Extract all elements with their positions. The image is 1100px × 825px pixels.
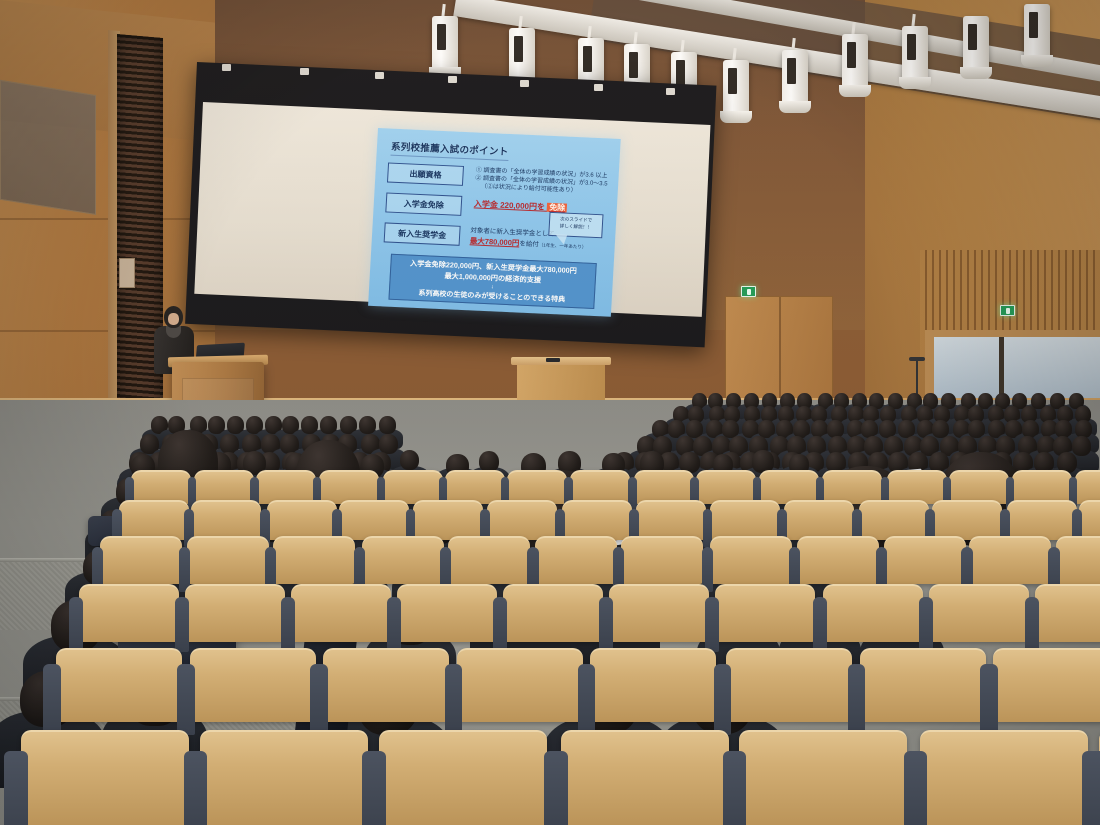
auditorium-seat xyxy=(100,536,182,584)
auditorium-seat xyxy=(194,470,254,504)
auditorium-seat xyxy=(457,648,583,722)
auditorium-seat xyxy=(562,500,632,540)
auditorium-seat xyxy=(634,470,694,504)
seat-side-panel xyxy=(578,664,596,734)
auditorium-seat xyxy=(273,536,355,584)
auditorium-seat xyxy=(822,470,882,504)
auditorium-seat xyxy=(1079,500,1100,540)
auditorium-seat xyxy=(191,500,261,540)
auditorium-seat xyxy=(609,584,709,642)
seat-side-panel xyxy=(362,751,386,825)
seat-side-panel xyxy=(175,597,189,652)
auditorium-seat xyxy=(710,536,792,584)
auditorium-seat xyxy=(21,730,189,825)
auditorium-seat xyxy=(797,536,879,584)
seat-side-panel xyxy=(544,751,568,825)
auditorium-seat xyxy=(291,584,391,642)
seat-side-panel xyxy=(705,597,719,652)
seat-side-panel xyxy=(177,664,195,734)
auditorium-seat xyxy=(1035,584,1100,642)
auditorium-seat xyxy=(859,500,929,540)
seat-side-panel xyxy=(4,751,28,825)
seat-side-panel xyxy=(281,597,295,652)
seat-side-panel xyxy=(599,597,613,652)
auditorium-seat xyxy=(200,730,368,825)
auditorium-seat xyxy=(590,648,716,722)
auditorium-seat xyxy=(503,584,603,642)
auditorium-seat xyxy=(784,500,854,540)
auditorium-seat xyxy=(570,470,630,504)
seat-rows-near xyxy=(0,0,1100,825)
seat-side-panel xyxy=(445,664,463,734)
auditorium-seat xyxy=(319,470,379,504)
seat-side-panel xyxy=(919,597,933,652)
auditorium-seat xyxy=(932,500,1002,540)
auditorium-seat xyxy=(323,648,449,722)
auditorium-seat xyxy=(56,648,182,722)
auditorium-seat xyxy=(383,470,443,504)
seat-side-panel xyxy=(723,751,747,825)
auditorium-seat xyxy=(190,648,316,722)
auditorium-seat xyxy=(993,648,1100,722)
auditorium-seat xyxy=(561,730,729,825)
auditorium-seat xyxy=(185,584,285,642)
auditorium-seat xyxy=(920,730,1088,825)
auditorium-seat xyxy=(256,470,316,504)
auditorium-seat xyxy=(739,730,907,825)
auditorium-seat xyxy=(79,584,179,642)
seat-side-panel xyxy=(813,597,827,652)
auditorium-seat xyxy=(636,500,706,540)
auditorium-seat xyxy=(397,584,497,642)
seat-side-panel xyxy=(980,664,998,734)
auditorium-seat xyxy=(929,584,1029,642)
auditorium-seat xyxy=(535,536,617,584)
seat-side-panel xyxy=(43,664,61,734)
auditorium-seat xyxy=(969,536,1051,584)
auditorium-seat xyxy=(1056,536,1100,584)
auditorium-seat xyxy=(119,500,189,540)
auditorium-photo: 系列校推薦入試のポイント 出願資格 入学金免除 新入生奨学金 ① 調査書の「全体… xyxy=(0,0,1100,825)
seat-side-panel xyxy=(387,597,401,652)
auditorium-seat xyxy=(1012,470,1072,504)
auditorium-seat xyxy=(448,536,530,584)
seat-side-panel xyxy=(493,597,507,652)
auditorium-seat xyxy=(949,470,1009,504)
seat-side-panel xyxy=(1025,597,1039,652)
seat-side-panel xyxy=(310,664,328,734)
auditorium-seat xyxy=(1075,470,1100,504)
auditorium-seat xyxy=(696,470,756,504)
seat-side-panel xyxy=(1082,751,1100,825)
auditorium-seat xyxy=(267,500,337,540)
seat-side-panel xyxy=(69,597,83,652)
auditorium-seat xyxy=(823,584,923,642)
auditorium-seat xyxy=(1007,500,1077,540)
auditorium-seat xyxy=(187,536,269,584)
auditorium-seat xyxy=(487,500,557,540)
auditorium-seat xyxy=(339,500,409,540)
auditorium-seat xyxy=(379,730,547,825)
seat-side-panel xyxy=(714,664,732,734)
auditorium-seat xyxy=(131,470,191,504)
seat-side-panel xyxy=(904,751,928,825)
auditorium-seat xyxy=(621,536,703,584)
auditorium-seat xyxy=(884,536,966,584)
auditorium-seat xyxy=(726,648,852,722)
auditorium-seat xyxy=(759,470,819,504)
seat-side-panel xyxy=(848,664,866,734)
seat-side-panel xyxy=(184,751,208,825)
auditorium-seat xyxy=(507,470,567,504)
auditorium-seat xyxy=(710,500,780,540)
auditorium-seat xyxy=(860,648,986,722)
auditorium-seat xyxy=(362,536,444,584)
auditorium-seat xyxy=(413,500,483,540)
auditorium-seat xyxy=(445,470,505,504)
auditorium-seat xyxy=(715,584,815,642)
auditorium-seat xyxy=(887,470,947,504)
